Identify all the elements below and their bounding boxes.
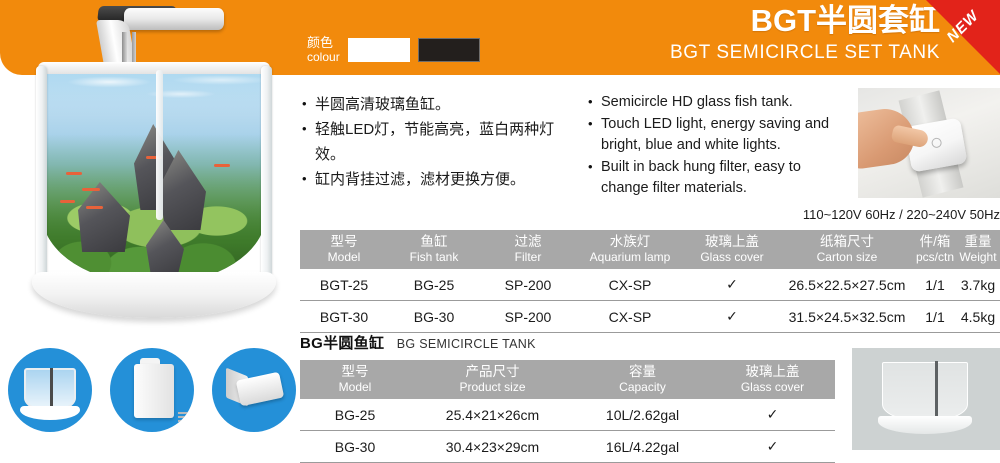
header-cn: 水族灯 bbox=[578, 234, 682, 250]
cell-weight: 3.7kg bbox=[956, 269, 1000, 301]
column-header-capacity: 容量 Capacity bbox=[575, 360, 710, 399]
lamp-stem-secondary-icon bbox=[132, 32, 136, 66]
tank-glass-left-edge bbox=[36, 66, 47, 284]
sub-section-title: BG半圆鱼缸 BG SEMICIRCLE TANK bbox=[300, 332, 536, 353]
cell-fish-tank: BG-30 bbox=[388, 301, 480, 333]
cell-model: BG-25 bbox=[300, 399, 410, 431]
tank-water bbox=[42, 72, 266, 284]
glass-tank-icon bbox=[882, 362, 968, 422]
thumbnail-semicircle-tank[interactable] bbox=[8, 348, 92, 432]
header-en: Weight bbox=[958, 250, 998, 264]
cell-capacity: 10L/2.62gal bbox=[575, 399, 710, 431]
feature-item: Semicircle HD glass fish tank. bbox=[588, 92, 850, 114]
feature-item: Built in back hung filter, easy to chang… bbox=[588, 157, 850, 200]
cell-fish-tank: BG-25 bbox=[388, 269, 480, 301]
lamp-head-icon bbox=[124, 8, 224, 30]
cell-weight: 4.5kg bbox=[956, 301, 1000, 333]
product-datasheet: BGT半圆套缸 BGT SEMICIRCLE SET TANK NEW 颜色 c… bbox=[0, 0, 1000, 450]
fish-icon bbox=[86, 206, 103, 209]
header-cn: 鱼缸 bbox=[390, 234, 478, 250]
column-header-aquarium-lamp: 水族灯 Aquarium lamp bbox=[576, 230, 684, 269]
cell-glass-cover-check: ✓ bbox=[710, 431, 835, 463]
header-cn: 产品尺寸 bbox=[412, 364, 573, 380]
cell-carton-size: 31.5×24.5×32.5cm bbox=[780, 301, 914, 333]
column-header-fish-tank: 鱼缸 Fish tank bbox=[388, 230, 480, 269]
colour-swatch-black[interactable] bbox=[418, 38, 480, 62]
column-header-glass-cover: 玻璃上盖 Glass cover bbox=[684, 230, 780, 269]
column-header-filter: 过滤 Filter bbox=[480, 230, 576, 269]
cell-glass-cover-check: ✓ bbox=[710, 399, 835, 431]
hero-product-photo bbox=[14, 4, 294, 334]
table-row: BGT-30 BG-30 SP-200 CX-SP ✓ 31.5×24.5×32… bbox=[300, 301, 1000, 333]
aquarium-tank bbox=[36, 66, 272, 302]
features-list-cn: 半圆高清玻璃鱼缸。 轻触LED灯，节能高亮，蓝白两种灯效。 缸内背挂过滤，滤材更… bbox=[302, 92, 580, 192]
header-en: Fish tank bbox=[390, 250, 478, 264]
header-cn: 型号 bbox=[302, 234, 386, 250]
product-title-en: BGT SEMICIRCLE SET TANK bbox=[670, 40, 940, 66]
fish-icon bbox=[60, 200, 75, 203]
thumbnail-led-light[interactable] bbox=[212, 348, 296, 432]
water-surface bbox=[42, 72, 266, 118]
cell-carton-size: 26.5×22.5×27.5cm bbox=[780, 269, 914, 301]
table-row: BG-25 25.4×21×26cm 10L/2.62gal ✓ bbox=[300, 399, 835, 431]
column-header-weight: 重量 Weight bbox=[956, 230, 1000, 269]
header-cn: 容量 bbox=[577, 364, 708, 380]
header-cn: 型号 bbox=[302, 364, 408, 380]
sub-title-cn: BG半圆鱼缸 bbox=[300, 335, 384, 352]
header-en: Carton size bbox=[782, 250, 912, 264]
feature-item: 半圆高清玻璃鱼缸。 bbox=[302, 92, 580, 117]
header-en: Product size bbox=[412, 380, 573, 394]
column-header-carton-size: 纸箱尺寸 Carton size bbox=[780, 230, 914, 269]
voltage-spec: 110~120V 60Hz / 220~240V 50Hz bbox=[700, 207, 1000, 222]
header-cn: 玻璃上盖 bbox=[712, 364, 833, 380]
cell-filter: SP-200 bbox=[480, 301, 576, 333]
fish-icon bbox=[66, 172, 82, 175]
header-cn: 重量 bbox=[958, 234, 998, 250]
features-list-en: Semicircle HD glass fish tank. Touch LED… bbox=[588, 92, 850, 200]
filter-vents-icon bbox=[178, 412, 194, 428]
cell-pcs-per-carton: 1/1 bbox=[914, 301, 956, 333]
touch-led-photo bbox=[858, 88, 1000, 198]
header-en: Glass cover bbox=[712, 380, 833, 394]
feature-item: 轻触LED灯，节能高亮，蓝白两种灯效。 bbox=[302, 117, 580, 167]
cell-product-size: 30.4×23×29cm bbox=[410, 431, 575, 463]
column-header-product-size: 产品尺寸 Product size bbox=[410, 360, 575, 399]
product-title-cn: BGT半圆套缸 bbox=[670, 2, 940, 40]
cell-aquarium-lamp: CX-SP bbox=[576, 301, 684, 333]
header-en: Filter bbox=[482, 250, 574, 264]
colour-label: 颜色 colour bbox=[307, 36, 340, 64]
tank-base-icon bbox=[20, 406, 80, 420]
component-thumbnails bbox=[8, 348, 296, 432]
filter-icon bbox=[134, 364, 174, 418]
cell-glass-cover-check: ✓ bbox=[684, 269, 780, 301]
tank-glass-right-edge bbox=[261, 66, 272, 284]
tank-top-rim bbox=[38, 62, 270, 74]
column-header-model: 型号 Model bbox=[300, 230, 388, 269]
cell-aquarium-lamp: CX-SP bbox=[576, 269, 684, 301]
empty-tank-photo bbox=[852, 348, 1000, 450]
thumbnail-hang-on-filter[interactable] bbox=[110, 348, 194, 432]
fish-icon bbox=[82, 188, 100, 191]
table-row: BG-30 30.4×23×29cm 16L/4.22gal ✓ bbox=[300, 431, 835, 463]
cell-pcs-per-carton: 1/1 bbox=[914, 269, 956, 301]
header-cn: 玻璃上盖 bbox=[686, 234, 778, 250]
header-en: Model bbox=[302, 380, 408, 394]
tank-base bbox=[32, 272, 276, 318]
header-en: Capacity bbox=[577, 380, 708, 394]
cell-product-size: 25.4×21×26cm bbox=[410, 399, 575, 431]
column-header-pcs-per-carton: 件/箱 pcs/ctn bbox=[914, 230, 956, 269]
column-header-model: 型号 Model bbox=[300, 360, 410, 399]
cell-model: BGT-30 bbox=[300, 301, 388, 333]
tank-specifications-table: 型号 Model 产品尺寸 Product size 容量 Capacity 玻… bbox=[300, 360, 835, 463]
header-cn: 纸箱尺寸 bbox=[782, 234, 912, 250]
feature-item: 缸内背挂过滤，滤材更换方便。 bbox=[302, 167, 580, 192]
column-header-glass-cover: 玻璃上盖 Glass cover bbox=[710, 360, 835, 399]
cell-model: BGT-25 bbox=[300, 269, 388, 301]
specifications-table: 型号 Model 鱼缸 Fish tank 过滤 Filter 水族灯 Aqua… bbox=[300, 230, 1000, 333]
cell-glass-cover-check: ✓ bbox=[684, 301, 780, 333]
header-en: Aquarium lamp bbox=[578, 250, 682, 264]
tank-base-icon bbox=[878, 416, 972, 434]
table-row: BGT-25 BG-25 SP-200 CX-SP ✓ 26.5×22.5×27… bbox=[300, 269, 1000, 301]
colour-selector: 颜色 colour bbox=[307, 36, 480, 64]
feature-item: Touch LED light, energy saving and brigh… bbox=[588, 114, 850, 157]
colour-label-cn: 颜色 bbox=[307, 36, 340, 50]
header-titles: BGT半圆套缸 BGT SEMICIRCLE SET TANK bbox=[670, 2, 940, 66]
header-en: Model bbox=[302, 250, 386, 264]
header-en: pcs/ctn bbox=[916, 250, 954, 264]
lamp-stem-icon bbox=[122, 32, 127, 66]
tank-glass-seam bbox=[156, 70, 163, 220]
fish-icon bbox=[214, 164, 230, 167]
table-header-row: 型号 Model 产品尺寸 Product size 容量 Capacity 玻… bbox=[300, 360, 835, 399]
cell-capacity: 16L/4.22gal bbox=[575, 431, 710, 463]
header-cn: 件/箱 bbox=[916, 234, 954, 250]
header-cn: 过滤 bbox=[482, 234, 574, 250]
new-badge: NEW bbox=[926, 0, 1000, 74]
colour-swatch-white[interactable] bbox=[348, 38, 410, 62]
sub-title-en: BG SEMICIRCLE TANK bbox=[397, 337, 536, 351]
colour-label-en: colour bbox=[307, 50, 340, 64]
cell-model: BG-30 bbox=[300, 431, 410, 463]
table-header-row: 型号 Model 鱼缸 Fish tank 过滤 Filter 水族灯 Aqua… bbox=[300, 230, 1000, 269]
header-en: Glass cover bbox=[686, 250, 778, 264]
cell-filter: SP-200 bbox=[480, 269, 576, 301]
